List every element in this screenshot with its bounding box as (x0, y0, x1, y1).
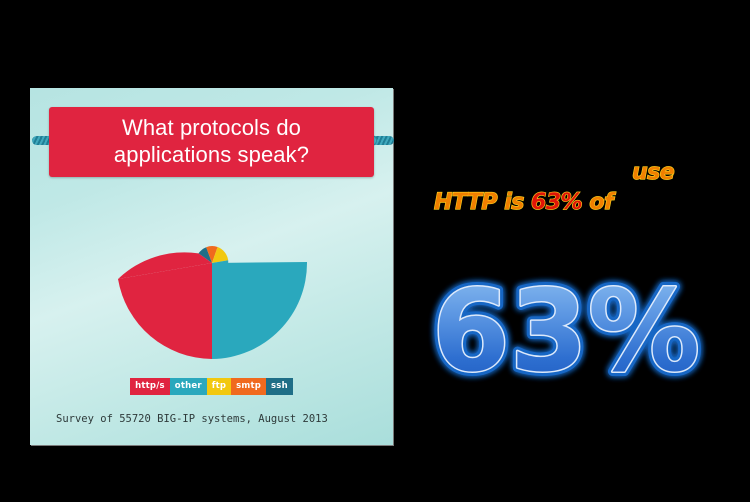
presentation-slide: What protocols do applications speak? ht… (30, 88, 393, 445)
slide-title: What protocols do applications speak? (108, 115, 315, 169)
big-stat-figure: 63% 63% 63% (432, 272, 692, 387)
big-stat-text: 63% (432, 267, 700, 397)
pie-chart-svg (30, 243, 393, 378)
overlay-headline-stat: 63% (531, 190, 582, 215)
overlay-headline-suffix: of (582, 190, 613, 215)
pie-chart (30, 243, 393, 378)
overlay-headline: HTTP is 63% of (434, 190, 613, 215)
legend-item-other[interactable]: other (170, 378, 207, 395)
overlay-headline-use: use (632, 160, 674, 185)
legend-item-https[interactable]: http/s (130, 378, 170, 395)
slide-title-banner: What protocols do applications speak? (49, 107, 374, 177)
slide-caption: Survey of 55720 BIG-IP systems, August 2… (56, 413, 376, 425)
overlay-headline-prefix: HTTP is (434, 190, 531, 215)
pie-slice-other (212, 262, 307, 359)
overlay-use-text: use (632, 160, 674, 185)
legend-item-smtp[interactable]: smtp (231, 378, 266, 395)
big-stat-svg: 63% 63% 63% (432, 272, 692, 387)
legend-item-ssh[interactable]: ssh (266, 378, 293, 395)
legend-item-ftp[interactable]: ftp (207, 378, 231, 395)
chart-legend: http/s other ftp smtp ssh (30, 378, 393, 395)
pie-slice-https (118, 263, 212, 359)
